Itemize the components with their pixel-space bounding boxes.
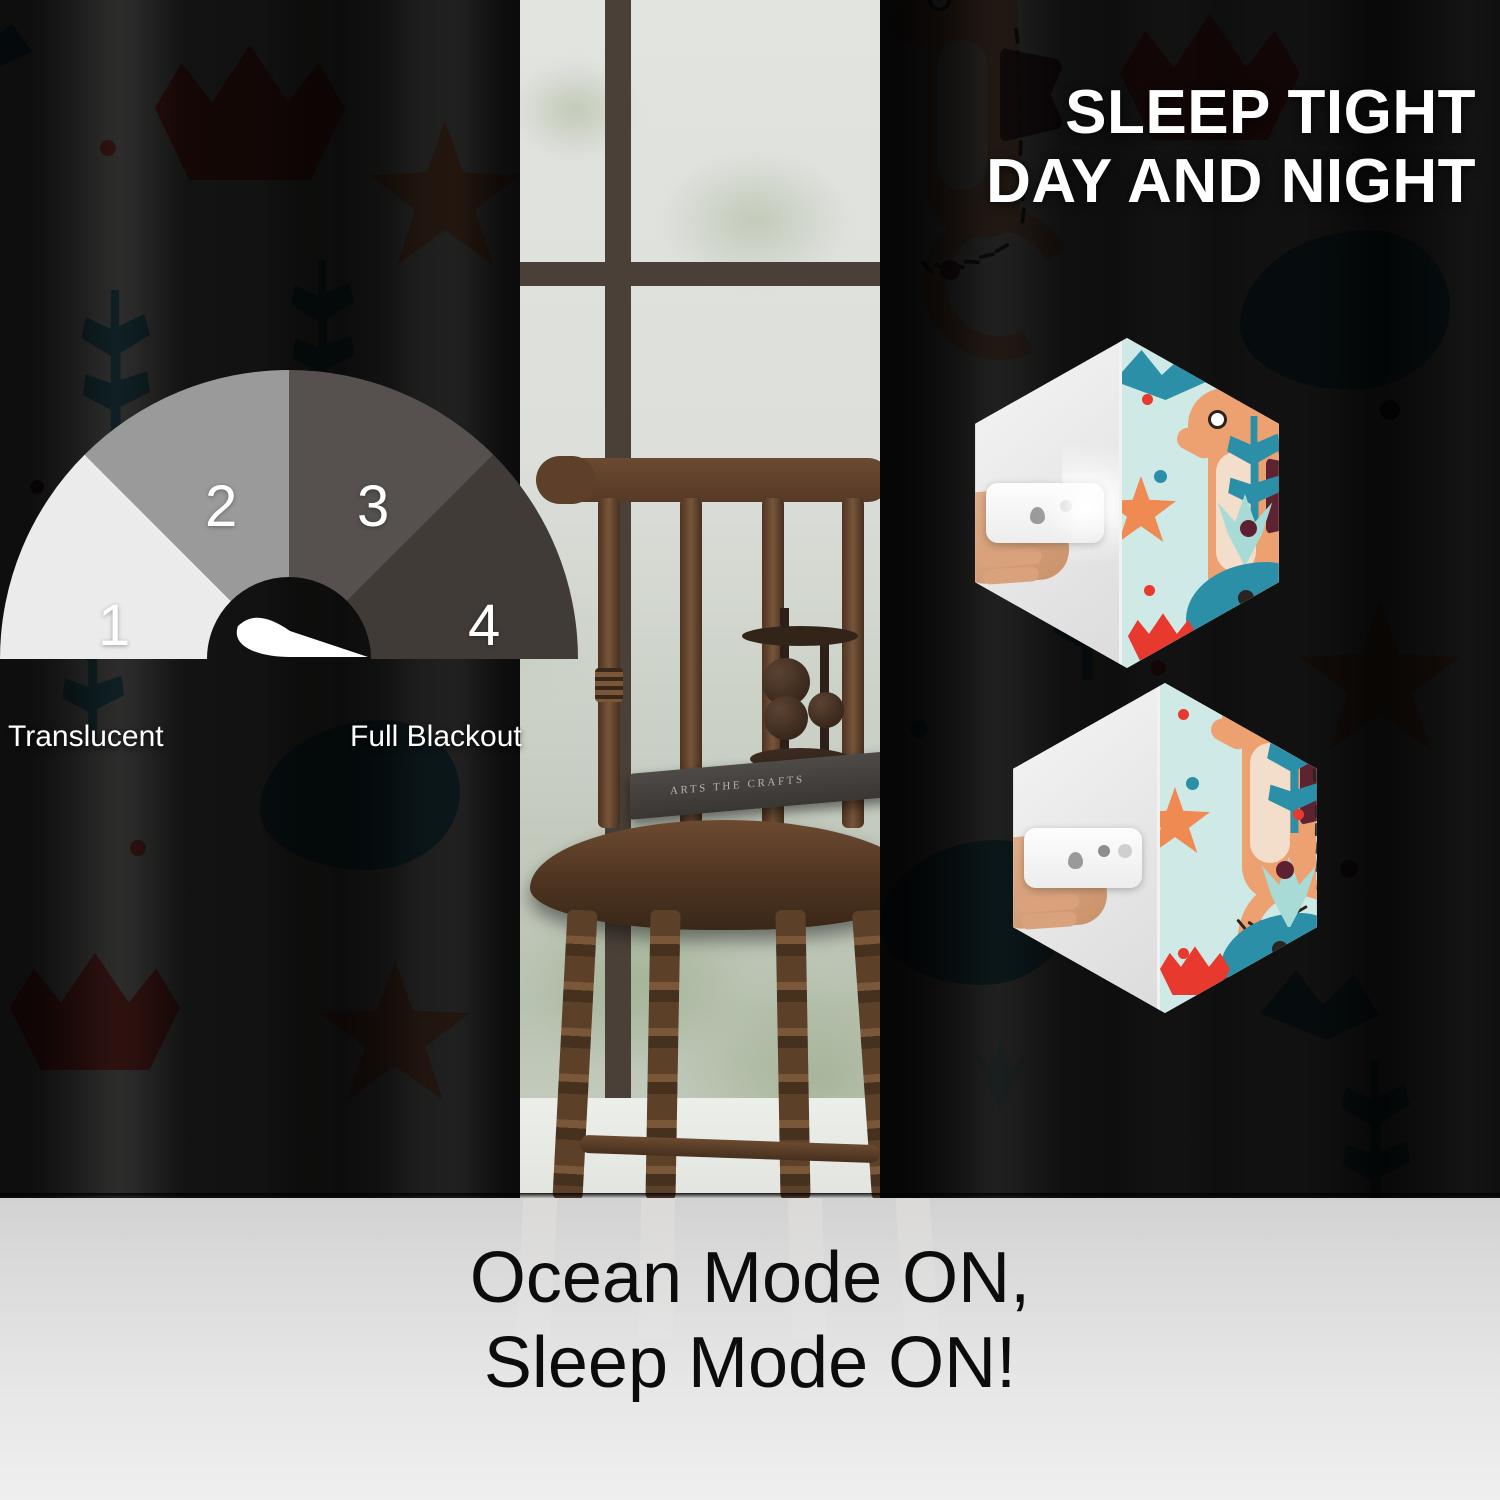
gauge-label-full-blackout: Full Blackout: [350, 720, 522, 754]
headline-line-1: SLEEP TIGHT: [986, 78, 1476, 147]
gauge-number-4: 4: [468, 592, 500, 659]
chair-stretcher: [580, 1135, 880, 1163]
opacity-gauge: 1 2 3 4 Translucent Full Blackout: [0, 370, 600, 770]
gauge-needle: [237, 618, 368, 657]
camera-lens-icon: [1060, 500, 1072, 512]
caption: Ocean Mode ON, Sleep Mode ON!: [0, 1236, 1500, 1406]
apple-logo-icon: [1068, 852, 1083, 869]
gauge-number-2: 2: [205, 473, 237, 540]
chair-spindle: [598, 498, 620, 828]
phone[interactable]: [986, 483, 1104, 543]
gauge-number-3: 3: [357, 473, 389, 540]
chair-leg: [645, 910, 680, 1200]
gauge-number-1: 1: [98, 592, 130, 659]
caption-line-2: Sleep Mode ON!: [0, 1321, 1500, 1406]
headline: SLEEP TIGHT DAY AND NIGHT: [986, 78, 1476, 217]
camera-lens-icon: [1098, 845, 1110, 857]
apple-logo-icon: [1030, 507, 1045, 524]
phone[interactable]: [1024, 828, 1142, 888]
book-title: ARTS THE CRAFTS: [670, 774, 805, 798]
chair-leg: [552, 909, 597, 1200]
gauge-label-translucent: Translucent: [8, 720, 164, 754]
flashlight-icon: [1080, 499, 1094, 513]
curtain-edge-shadow-right: [880, 0, 986, 1200]
chair-top-rail: [550, 458, 890, 502]
product-marketing-image: ARTS THE CRAFTS: [0, 0, 1500, 1500]
headline-line-2: DAY AND NIGHT: [986, 147, 1476, 216]
wooden-decor-object: [720, 600, 870, 780]
caption-band: Ocean Mode ON, Sleep Mode ON!: [0, 1198, 1500, 1500]
flashlight-icon: [1118, 844, 1132, 858]
caption-line-1: Ocean Mode ON,: [0, 1236, 1500, 1321]
window-mullion-horizontal: [455, 262, 925, 286]
